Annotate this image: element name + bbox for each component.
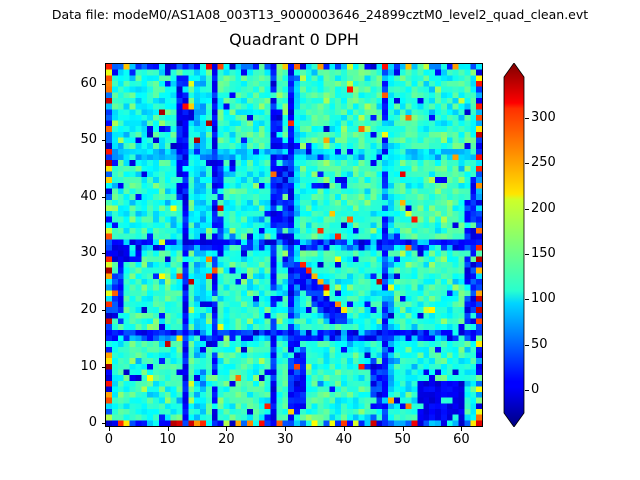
figure-canvas: Data file: modeM0/AS1A08_003T13_90000036… <box>0 0 640 480</box>
colorbar-tick-label: 250 <box>531 155 556 171</box>
y-tick-mark <box>102 84 106 85</box>
y-tick-mark <box>102 253 106 254</box>
x-tick-label: 60 <box>441 432 481 448</box>
y-tick-label: 30 <box>55 245 97 261</box>
y-tick-mark <box>102 310 106 311</box>
y-tick-label: 10 <box>55 359 97 375</box>
x-tick-label: 40 <box>324 432 364 448</box>
y-tick-mark <box>102 197 106 198</box>
colorbar-gradient <box>503 63 525 427</box>
colorbar-tick-label: 0 <box>531 382 539 398</box>
x-tick-mark <box>461 427 462 431</box>
x-tick-mark <box>344 427 345 431</box>
y-tick-label: 40 <box>55 189 97 205</box>
y-tick-mark <box>102 367 106 368</box>
colorbar-tick-label: 100 <box>531 291 556 307</box>
colorbar-tick-mark <box>525 118 529 119</box>
y-tick-mark <box>102 140 106 141</box>
y-tick-label: 50 <box>55 132 97 148</box>
x-tick-mark <box>168 427 169 431</box>
y-tick-mark <box>102 423 106 424</box>
colorbar-tick-mark <box>525 390 529 391</box>
colorbar-tick-label: 200 <box>531 201 556 217</box>
x-tick-mark <box>226 427 227 431</box>
x-tick-label: 50 <box>383 432 423 448</box>
heatmap-image[interactable] <box>106 64 482 426</box>
x-tick-mark <box>109 427 110 431</box>
y-tick-label: 0 <box>55 415 97 431</box>
colorbar-tick-mark <box>525 299 529 300</box>
heatmap-axes[interactable] <box>105 63 483 427</box>
x-tick-label: 30 <box>265 432 305 448</box>
page-title: Quadrant 0 DPH <box>105 30 483 50</box>
x-tick-mark <box>285 427 286 431</box>
x-tick-label: 20 <box>206 432 246 448</box>
data-file-label: Data file: modeM0/AS1A08_003T13_90000036… <box>0 7 640 22</box>
y-tick-label: 20 <box>55 302 97 318</box>
colorbar[interactable] <box>503 63 525 427</box>
colorbar-tick-label: 50 <box>531 337 548 353</box>
y-tick-label: 60 <box>55 76 97 92</box>
x-tick-label: 10 <box>148 432 188 448</box>
colorbar-tick-mark <box>525 209 529 210</box>
x-tick-mark <box>403 427 404 431</box>
colorbar-tick-mark <box>525 345 529 346</box>
colorbar-tick-label: 300 <box>531 110 556 126</box>
colorbar-tick-mark <box>525 163 529 164</box>
colorbar-tick-label: 150 <box>531 246 556 262</box>
x-tick-label: 0 <box>89 432 129 448</box>
colorbar-tick-mark <box>525 254 529 255</box>
